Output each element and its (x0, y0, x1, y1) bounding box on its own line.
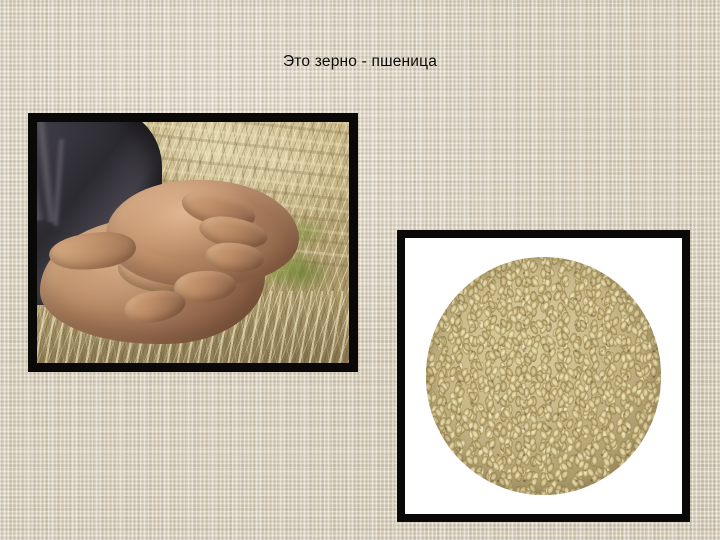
slide: Это зерно - пшеница (0, 0, 720, 540)
grain-disc (426, 257, 661, 494)
sleeve-fold (51, 139, 66, 226)
photo-hands-with-wheat-grain (28, 113, 358, 372)
photo-wheat-grain-circle (397, 230, 690, 522)
disc-vignette (426, 257, 661, 494)
page-title: Это зерно - пшеница (0, 52, 720, 72)
photo-hands-content (37, 122, 349, 363)
photo-grain-content (405, 238, 682, 514)
